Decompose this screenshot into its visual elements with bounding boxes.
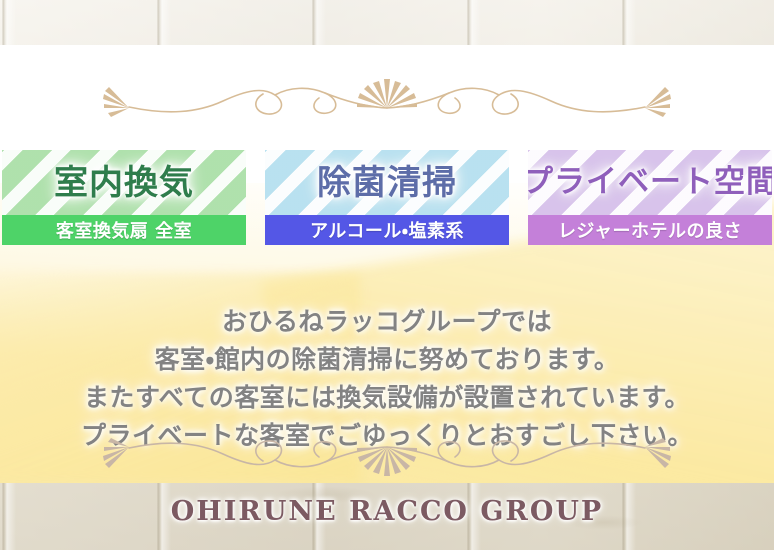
brand-footer-text: OHIRUNE RACCO GROUP <box>0 496 774 527</box>
feature-card-ventilation: 室内換気 客室換気扇 全室 <box>2 150 246 245</box>
flourish-divider-top-icon <box>77 67 697 125</box>
content-panel: 室内換気 客室換気扇 全室 除菌清掃 アルコール・塩素系 プライベート空間 <box>0 45 774 483</box>
card-subtitle-private-space: レジャーホテルの良さ <box>528 215 772 245</box>
feature-card-sanitizing: 除菌清掃 アルコール・塩素系 <box>265 150 509 245</box>
card-title-ventilation: 室内換気 <box>54 166 194 200</box>
body-line-4: プライベートな客室でごゆっくりとおすごし下さい。 <box>0 417 774 455</box>
body-line-3: またすべての客室には換気設備が設置されています。 <box>0 379 774 417</box>
card-header-private-space: プライベート空間 <box>528 150 772 215</box>
card-title-private-space: プライベート空間 <box>528 167 772 198</box>
feature-card-private-space: プライベート空間 レジャーホテルの良さ <box>528 150 772 245</box>
card-header-sanitizing: 除菌清掃 <box>265 150 509 215</box>
body-line-2: 客室・館内の除菌清掃に努めております。 <box>0 341 774 379</box>
body-line-1: おひるねラッコグループでは <box>0 303 774 341</box>
card-subtitle-sanitizing: アルコール・塩素系 <box>265 215 509 245</box>
body-message: おひるねラッコグループでは 客室・館内の除菌清掃に努めております。 またすべての… <box>0 303 774 455</box>
panel-content: 室内換気 客室換気扇 全室 除菌清掃 アルコール・塩素系 プライベート空間 <box>0 45 774 483</box>
card-header-ventilation: 室内換気 <box>2 150 246 215</box>
feature-card-row: 室内換気 客室換気扇 全室 除菌清掃 アルコール・塩素系 プライベート空間 <box>0 150 774 245</box>
banner-root: 室内換気 客室換気扇 全室 除菌清掃 アルコール・塩素系 プライベート空間 <box>0 0 774 550</box>
card-subtitle-ventilation: 客室換気扇 全室 <box>2 215 246 245</box>
card-title-sanitizing: 除菌清掃 <box>317 166 457 200</box>
